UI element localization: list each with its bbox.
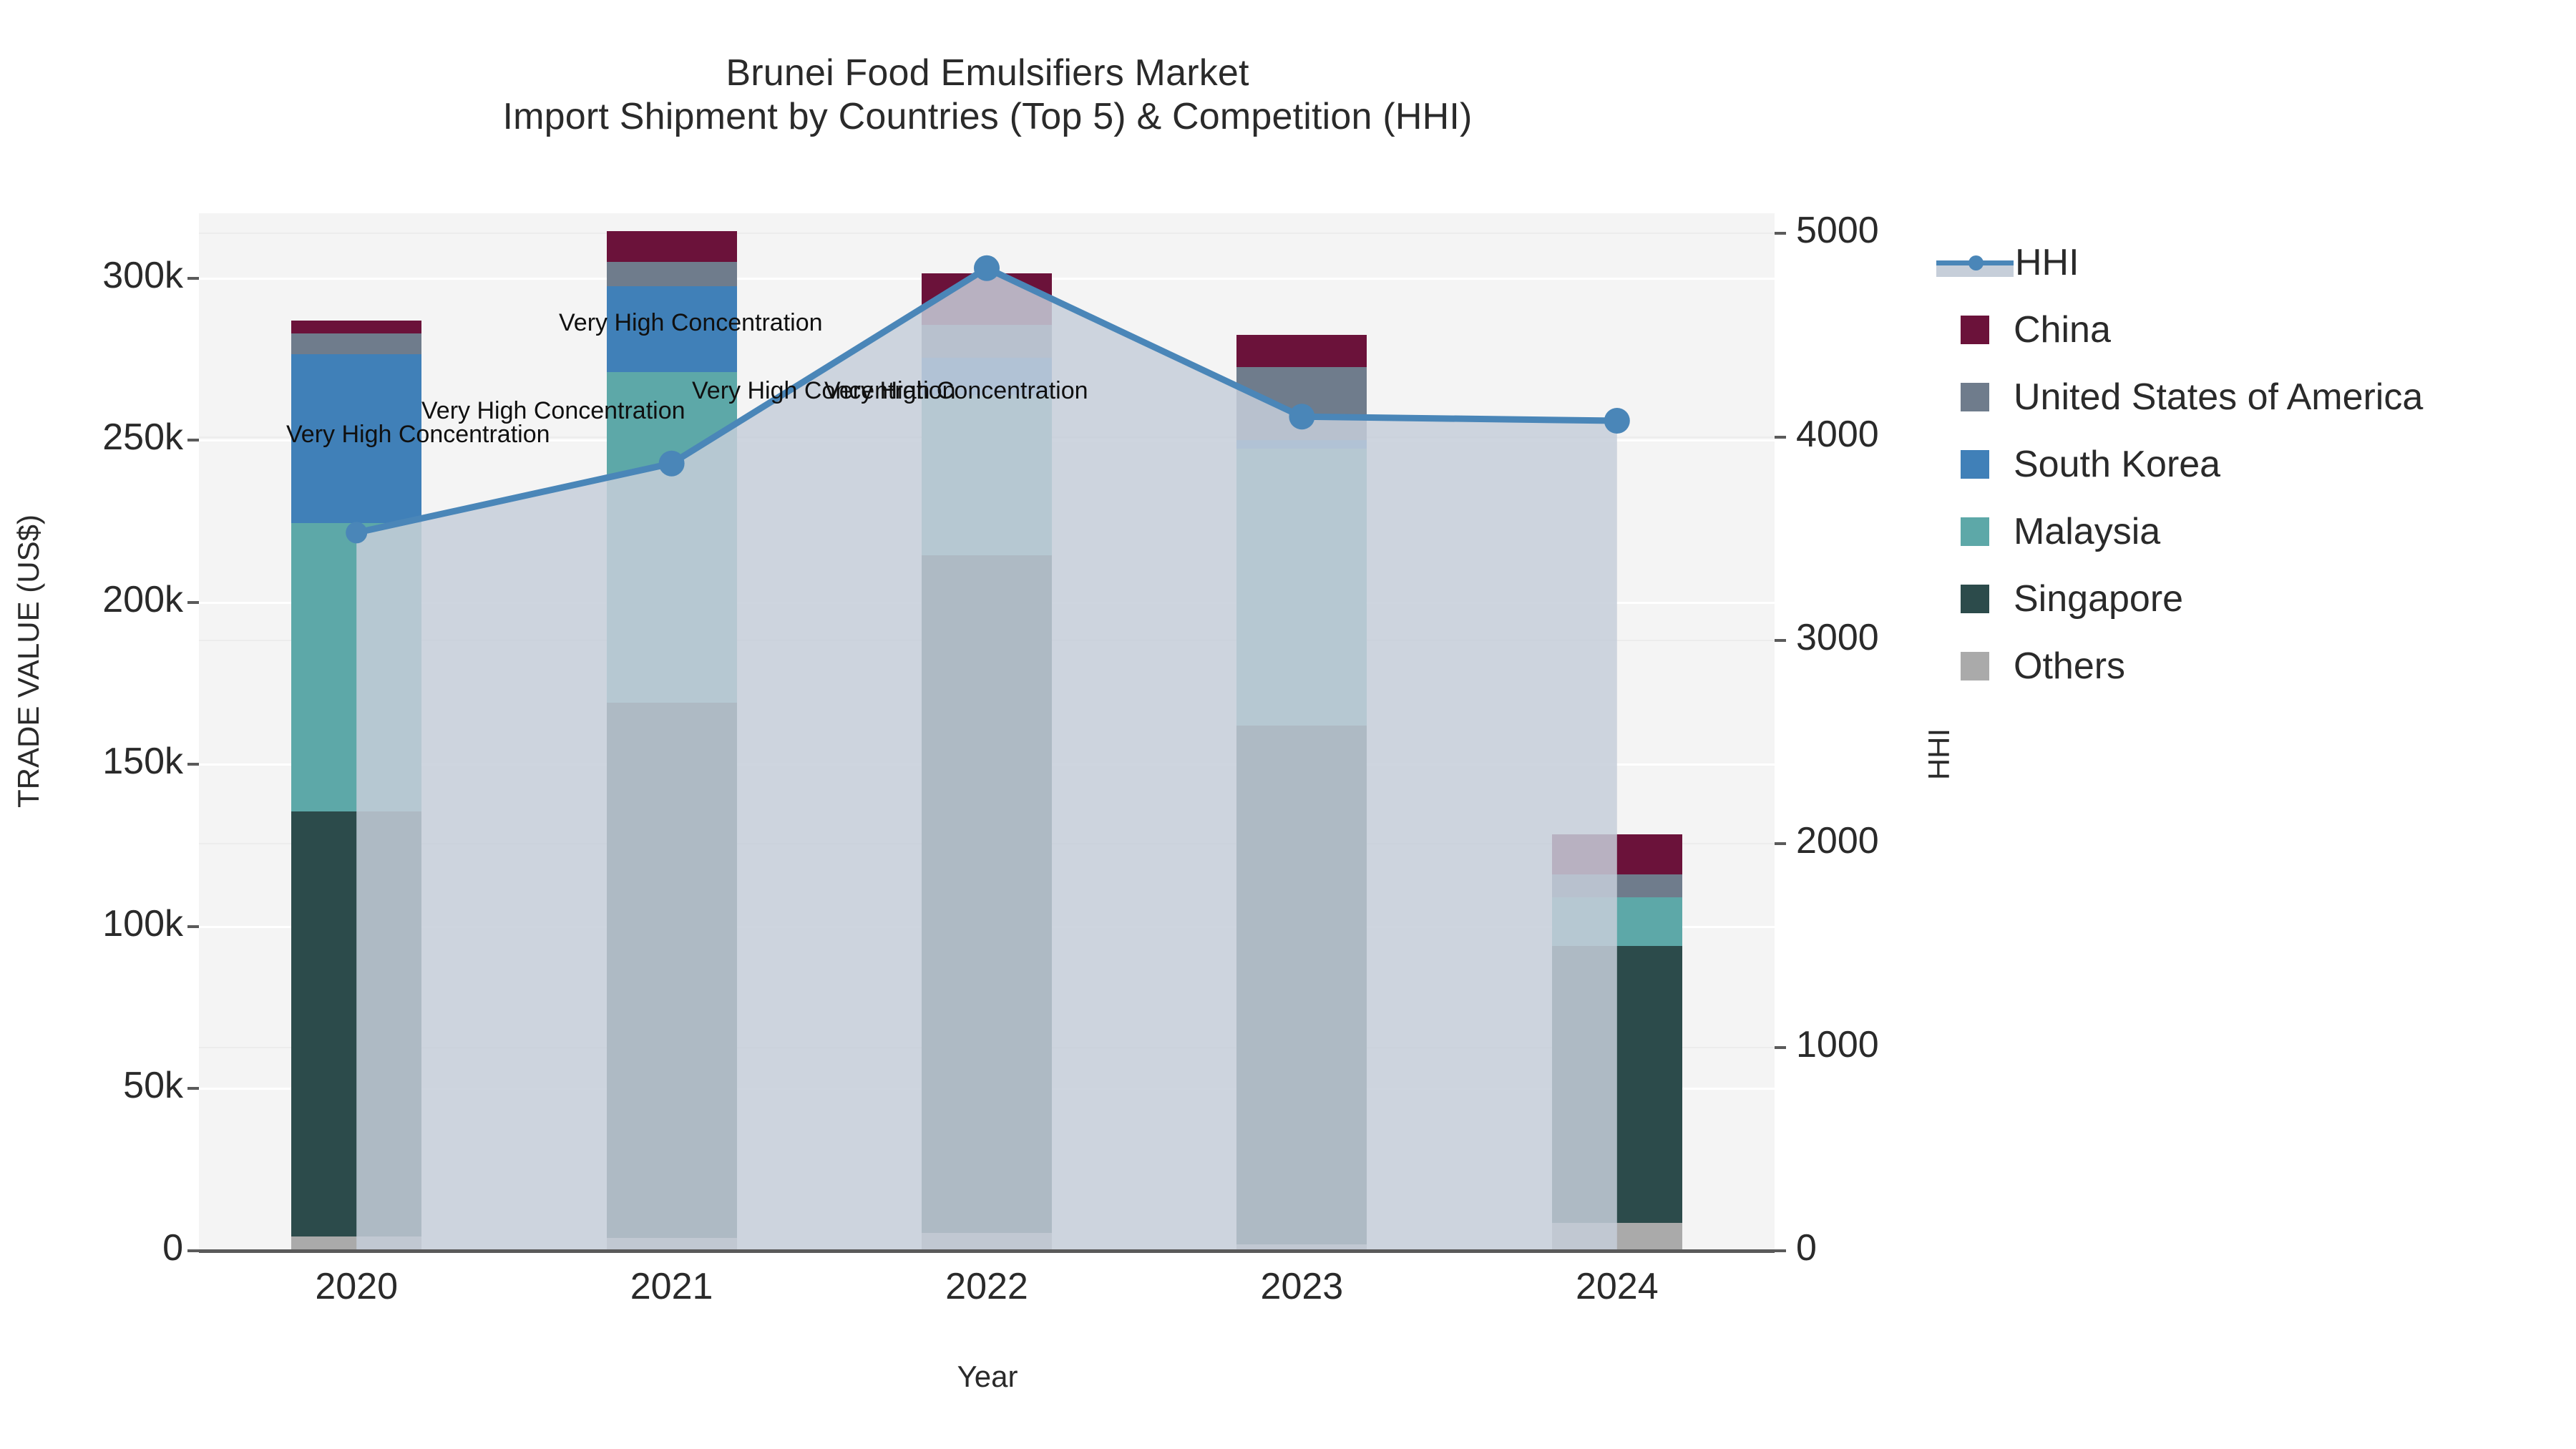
bar-segment-others[interactable] (291, 1236, 421, 1251)
y-tickmark-right (1775, 1046, 1786, 1049)
legend-swatch-icon (1961, 585, 1989, 613)
y-tickmark-left (187, 763, 199, 766)
x-tick-2024: 2024 (1510, 1265, 1724, 1308)
y-tick-left-50k: 50k (0, 1064, 206, 1107)
y-tickmark-right (1775, 232, 1786, 235)
bar-segment-singapore[interactable] (1236, 726, 1367, 1244)
bar-segment-united-states-of-america[interactable] (1552, 874, 1682, 897)
legend-swatch-icon (1961, 316, 1989, 344)
bar-segment-south-korea[interactable] (1236, 440, 1367, 448)
legend-label: United States of America (2014, 379, 2423, 416)
y-tickmark-left (187, 277, 199, 280)
y-tickmark-right (1775, 842, 1786, 845)
legend-label: Singapore (2014, 580, 2183, 618)
bar-segment-singapore[interactable] (291, 811, 421, 1236)
legend-swatch-icon (1961, 517, 1989, 546)
x-axis-baseline (199, 1249, 1775, 1253)
y-tick-left-250k: 250k (0, 416, 206, 459)
bar-segment-others[interactable] (1552, 1223, 1682, 1251)
y-tickmark-left (187, 601, 199, 604)
bar-segment-singapore[interactable] (607, 703, 737, 1238)
annotation-concentration-2024: Very High Concentration (824, 379, 1088, 403)
bar-segment-malaysia[interactable] (922, 395, 1052, 555)
bar-segment-malaysia[interactable] (1552, 897, 1682, 946)
legend-swatch-icon (1961, 652, 1989, 680)
bar-segment-china[interactable] (1236, 335, 1367, 367)
legend-item-south-korea[interactable]: South Korea (1961, 431, 2562, 498)
bar-segment-china[interactable] (1552, 834, 1682, 875)
bar-segment-malaysia[interactable] (291, 523, 421, 811)
x-tick-2020: 2020 (249, 1265, 464, 1308)
x-tick-2023: 2023 (1194, 1265, 1409, 1308)
annotation-concentration-2021: Very High Concentration (421, 399, 686, 423)
legend-swatch-icon (1961, 450, 1989, 479)
legend-line-icon (1935, 248, 2015, 277)
bar-segment-united-states-of-america[interactable] (607, 262, 737, 286)
bar-group-2020[interactable] (291, 213, 421, 1251)
bar-group-2023[interactable] (1236, 213, 1367, 1251)
y-tick-right-1000: 1000 (1796, 1023, 1968, 1066)
legend-label: Others (2014, 648, 2125, 685)
bar-segment-others[interactable] (922, 1233, 1052, 1251)
bar-segment-singapore[interactable] (1552, 946, 1682, 1223)
bar-group-2021[interactable] (607, 213, 737, 1251)
bar-segment-united-states-of-america[interactable] (291, 333, 421, 354)
y-tick-left-100k: 100k (0, 902, 206, 945)
plot-area: Very High ConcentrationVery High Concent… (199, 213, 1775, 1251)
y-tickmark-left (187, 439, 199, 441)
legend-item-china[interactable]: China (1961, 296, 2562, 364)
legend-item-others[interactable]: Others (1961, 633, 2562, 700)
chart-title-line-2: Import Shipment by Countries (Top 5) & C… (0, 95, 1975, 139)
legend-label: South Korea (2014, 446, 2220, 483)
bar-segment-united-states-of-america[interactable] (922, 325, 1052, 357)
x-tick-2022: 2022 (879, 1265, 1094, 1308)
legend-item-united-states-of-america[interactable]: United States of America (1961, 364, 2562, 431)
y-tickmark-right (1775, 1249, 1786, 1252)
legend-label: China (2014, 311, 2111, 348)
chart-title: Brunei Food Emulsifiers Market Import Sh… (0, 52, 1975, 140)
legend-item-malaysia[interactable]: Malaysia (1961, 498, 2562, 565)
chart-root: Brunei Food Emulsifiers Market Import Sh… (0, 0, 2576, 1449)
y-tickmark-right (1775, 436, 1786, 439)
y-tickmark-right (1775, 639, 1786, 642)
legend-label: HHI (2015, 244, 2079, 281)
y-tick-right-0: 0 (1796, 1226, 1968, 1269)
bar-segment-china[interactable] (291, 321, 421, 333)
legend-swatch-icon (1961, 383, 1989, 411)
y-tick-left-300k: 300k (0, 254, 206, 297)
bar-group-2024[interactable] (1552, 213, 1682, 1251)
bar-segment-china[interactable] (607, 231, 737, 262)
legend-item-singapore[interactable]: Singapore (1961, 565, 2562, 633)
x-tick-2021: 2021 (565, 1265, 779, 1308)
bar-group-2022[interactable] (922, 213, 1052, 1251)
y-tick-right-4000: 4000 (1796, 413, 1968, 456)
y-tick-right-5000: 5000 (1796, 209, 1968, 252)
legend: HHIChinaUnited States of AmericaSouth Ko… (1961, 229, 2562, 700)
bar-segment-china[interactable] (922, 273, 1052, 326)
annotation-concentration-2020: Very High Concentration (286, 422, 550, 447)
bar-segment-united-states-of-america[interactable] (1236, 367, 1367, 440)
y-tickmark-left (187, 1087, 199, 1090)
chart-title-line-1: Brunei Food Emulsifiers Market (0, 52, 1975, 95)
bar-segment-malaysia[interactable] (1236, 449, 1367, 726)
annotation-concentration-2022: Very High Concentration (559, 311, 823, 335)
legend-label: Malaysia (2014, 513, 2160, 550)
legend-item-hhi[interactable]: HHI (1961, 229, 2562, 296)
y-axis-right-label: HHI (1922, 647, 1956, 862)
x-axis-label: Year (0, 1360, 1975, 1394)
y-tick-left-0: 0 (0, 1226, 206, 1269)
bar-segment-singapore[interactable] (922, 555, 1052, 1233)
y-axis-left-label: TRADE VALUE (US$) (11, 482, 46, 840)
y-tickmark-left (187, 925, 199, 928)
y-tickmark-left (187, 1249, 199, 1252)
